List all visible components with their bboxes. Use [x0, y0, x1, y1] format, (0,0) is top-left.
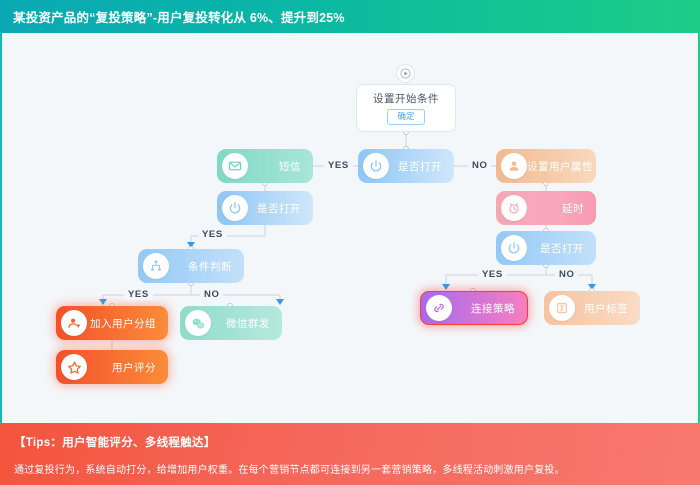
node-wechat-broadcast[interactable]: 微信群发	[180, 306, 282, 340]
node-label: 是否打开	[527, 241, 584, 256]
confirm-button[interactable]: 确定	[387, 109, 424, 124]
star-icon	[61, 354, 87, 380]
branch-label-yes-condition: YES	[124, 289, 153, 300]
node-user-score[interactable]: 用户评分	[56, 350, 168, 384]
tag-icon	[549, 295, 575, 321]
user-icon	[501, 153, 527, 179]
node-connect-strategy[interactable]: 连接策略	[420, 291, 528, 325]
wechat-icon	[185, 310, 211, 336]
node-label: 是否打开	[248, 201, 301, 216]
branch-label-yes-opened-right: YES	[478, 269, 507, 280]
node-label: 用户评分	[87, 360, 156, 375]
tips-footer: 【Tips：用户智能评分、多线程触达】 通过复投行为，系统自动打分，给增加用户权…	[0, 423, 700, 485]
branch-label-yes-sms: YES	[324, 160, 353, 171]
envelope-icon	[222, 153, 248, 179]
power-icon	[222, 195, 248, 221]
node-condition[interactable]: 条件判断	[138, 249, 244, 283]
node-user-tag[interactable]: 用户标签	[544, 291, 640, 325]
node-label: 加入用户分组	[87, 316, 156, 331]
node-opened-top[interactable]: 是否打开	[358, 149, 454, 183]
node-label: 连接策略	[452, 301, 515, 316]
node-user-attribute[interactable]: 设置用户属性	[496, 149, 596, 183]
sitemap-icon	[143, 253, 169, 279]
power-icon	[501, 235, 527, 261]
node-label: 设置用户属性	[527, 159, 593, 174]
node-label: 短信	[248, 159, 301, 174]
node-opened-left[interactable]: 是否打开	[217, 191, 313, 225]
page-title: 某投资产品的“复投策略”-用户复投转化从 6%、提升到25%	[0, 7, 345, 26]
node-join-user-group[interactable]: 加入用户分组	[56, 306, 168, 340]
node-delay[interactable]: 延时	[496, 191, 596, 225]
branch-label-no-condition: NO	[200, 289, 223, 300]
node-label: 是否打开	[389, 159, 442, 174]
branch-label-yes-opened-left: YES	[198, 229, 227, 240]
alarm-clock-icon	[501, 195, 527, 221]
link-icon	[426, 295, 452, 321]
tips-body: 通过复投行为，系统自动打分，给增加用户权重。在每个营销节点都可连接到另一套营销策…	[14, 461, 686, 476]
flow-canvas[interactable]: 设置开始条件 确定 短信 是否打开 是否打开 设置用户属性	[0, 33, 700, 423]
play-icon	[400, 68, 411, 79]
tips-title: 【Tips：用户智能评分、多线程触达】	[14, 434, 686, 450]
start-node-label: 设置开始条件	[373, 91, 439, 106]
node-label: 延时	[527, 201, 584, 216]
node-opened-right[interactable]: 是否打开	[496, 231, 596, 265]
user-plus-icon	[61, 310, 87, 336]
branch-label-no-opened-right: NO	[555, 269, 578, 280]
branch-label-no-opened-top: NO	[468, 160, 491, 171]
play-circle-icon[interactable]	[396, 64, 415, 83]
power-icon	[363, 153, 389, 179]
flowchart-page: 某投资产品的“复投策略”-用户复投转化从 6%、提升到25%	[0, 0, 700, 485]
page-header: 某投资产品的“复投策略”-用户复投转化从 6%、提升到25%	[0, 0, 700, 33]
node-sms[interactable]: 短信	[217, 149, 313, 183]
node-label: 用户标签	[575, 301, 628, 316]
start-condition-node[interactable]: 设置开始条件 确定	[356, 84, 456, 132]
node-label: 微信群发	[211, 316, 270, 331]
node-label: 条件判断	[169, 259, 232, 274]
